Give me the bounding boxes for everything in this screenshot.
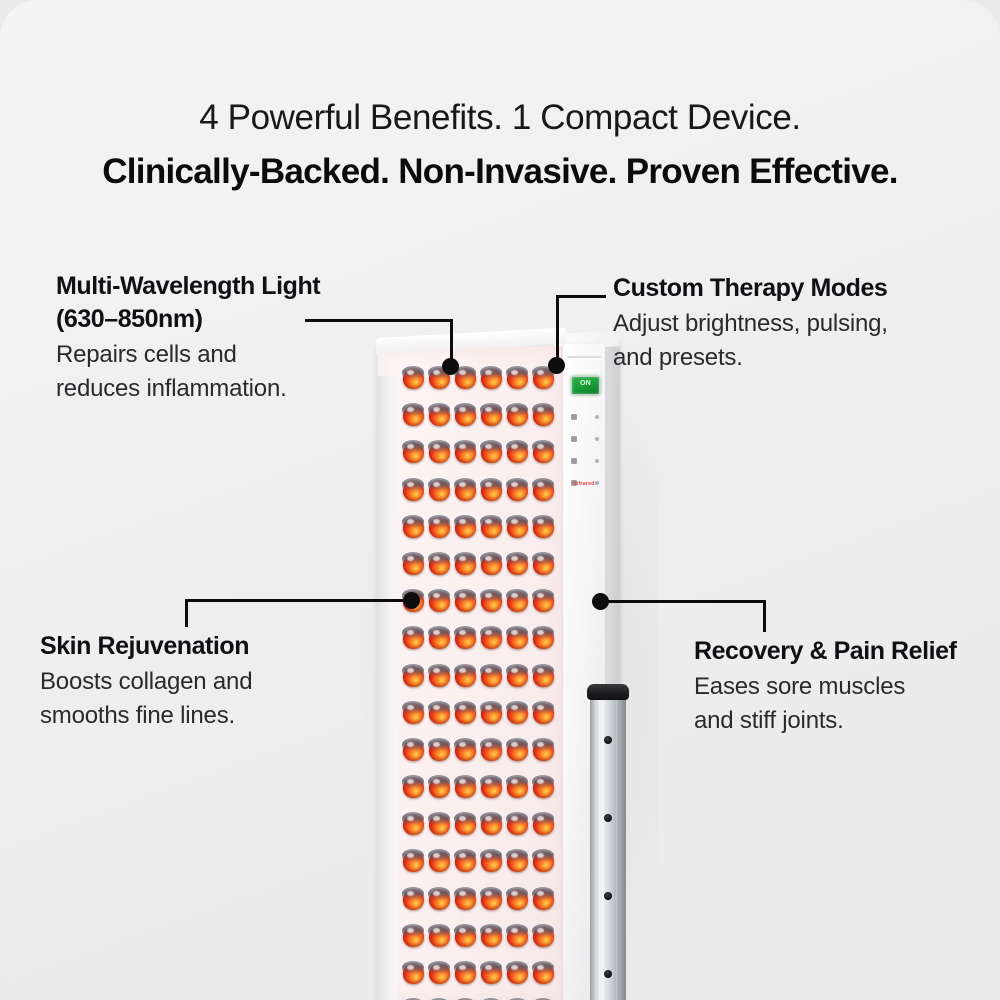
led-bulb (507, 740, 528, 761)
led-bulb (403, 926, 424, 947)
headline-block: 4 Powerful Benefits. 1 Compact Device. C… (0, 96, 1000, 195)
led-bulb (403, 703, 424, 724)
led-bulb (429, 591, 450, 612)
led-bulb (533, 777, 554, 798)
stand-pole-cap (587, 684, 629, 700)
leader-dot-skin (403, 592, 420, 609)
led-bulb (455, 405, 476, 426)
led-bulb (533, 591, 554, 612)
led-bulb (429, 963, 450, 984)
stand-pole (590, 696, 626, 1000)
leader-line-therapy-modes-vertical (556, 295, 559, 365)
pulse-button-icon[interactable] (571, 458, 577, 464)
indicator-led-icon (595, 415, 599, 419)
callout-description: Boosts collagen and smooths fine lines. (40, 665, 370, 733)
led-bulb (481, 442, 502, 463)
stand-adjustment-hole (604, 736, 612, 744)
led-bulb (429, 777, 450, 798)
led-bulb (429, 554, 450, 575)
control-button-row-2[interactable] (571, 436, 599, 442)
led-bulb (533, 666, 554, 687)
led-bulb (481, 926, 502, 947)
headline-line-2: Clinically-Backed. Non-Invasive. Proven … (0, 150, 1000, 195)
control-panel-seam (567, 356, 601, 358)
led-bulb (455, 628, 476, 649)
stand-adjustment-hole (604, 892, 612, 900)
leader-dot-therapy-modes (548, 357, 565, 374)
led-bulb (455, 554, 476, 575)
led-bulb (533, 851, 554, 872)
led-bulb (507, 889, 528, 910)
callout-custom-therapy-modes: Custom Therapy Modes Adjust brightness, … (613, 272, 963, 375)
led-bulb (507, 368, 528, 389)
control-panel-display: ON (571, 376, 600, 395)
led-bulb (455, 703, 476, 724)
callout-title: Multi-Wavelength Light (630–850nm) (56, 270, 386, 336)
callout-title: Skin Rejuvenation (40, 630, 370, 663)
led-bulb (507, 480, 528, 501)
callout-description: Eases sore muscles and stiff joints. (694, 670, 1000, 738)
control-button-row-1[interactable] (571, 414, 599, 420)
red-light-therapy-device: ON Infrared (372, 316, 640, 1000)
leader-line-skin-horizontal (185, 599, 413, 602)
led-bulb (455, 666, 476, 687)
led-bulb (481, 777, 502, 798)
led-bulb (533, 480, 554, 501)
led-bulb (481, 517, 502, 538)
callout-description: Adjust brightness, pulsing, and presets. (613, 307, 963, 375)
callout-skin-rejuvenation: Skin Rejuvenation Boosts collagen and sm… (40, 630, 370, 733)
device-led-face (378, 346, 564, 1000)
led-bulb (533, 628, 554, 649)
led-bulb (481, 851, 502, 872)
leader-line-recovery-horizontal (600, 600, 766, 603)
led-grid (400, 368, 556, 1000)
led-bulb (507, 851, 528, 872)
led-bulb (455, 889, 476, 910)
led-bulb (403, 740, 424, 761)
stand-adjustment-hole (604, 970, 612, 978)
led-bulb (481, 889, 502, 910)
led-bulb (481, 405, 502, 426)
led-bulb (429, 851, 450, 872)
control-button-row-3[interactable] (571, 458, 599, 464)
led-bulb (455, 777, 476, 798)
led-bulb (533, 889, 554, 910)
callout-multi-wavelength-light: Multi-Wavelength Light (630–850nm) Repai… (56, 270, 386, 406)
led-bulb (481, 591, 502, 612)
led-bulb (533, 442, 554, 463)
led-bulb (533, 740, 554, 761)
product-feature-card: 4 Powerful Benefits. 1 Compact Device. C… (0, 0, 1000, 1000)
leader-line-recovery-vertical (763, 600, 766, 632)
callout-title: Custom Therapy Modes (613, 272, 963, 305)
led-bulb (533, 814, 554, 835)
led-bulb (429, 405, 450, 426)
led-bulb (403, 814, 424, 835)
display-label: ON (572, 380, 599, 387)
led-bulb (507, 442, 528, 463)
headline-line-1: 4 Powerful Benefits. 1 Compact Device. (0, 96, 1000, 141)
led-bulb (533, 517, 554, 538)
led-bulb (481, 368, 502, 389)
led-bulb (403, 480, 424, 501)
led-bulb (429, 703, 450, 724)
led-bulb (403, 442, 424, 463)
pole-groove (616, 696, 617, 1000)
led-bulb (481, 814, 502, 835)
led-bulb (507, 666, 528, 687)
led-bulb (403, 517, 424, 538)
led-bulb (455, 740, 476, 761)
indicator-led-icon (595, 459, 599, 463)
led-bulb (481, 666, 502, 687)
led-bulb (533, 703, 554, 724)
led-bulb (533, 926, 554, 947)
brand-logo: Infrared (566, 482, 602, 488)
led-bulb (455, 591, 476, 612)
led-bulb (403, 851, 424, 872)
led-bulb (429, 926, 450, 947)
led-bulb (429, 889, 450, 910)
device-left-bezel (378, 376, 398, 1000)
led-bulb (481, 480, 502, 501)
led-bulb (481, 703, 502, 724)
led-bulb (533, 554, 554, 575)
leader-line-skin-vertical (185, 599, 188, 627)
led-bulb (403, 777, 424, 798)
led-bulb (455, 442, 476, 463)
led-bulb (455, 963, 476, 984)
led-bulb (455, 814, 476, 835)
led-bulb (533, 405, 554, 426)
led-bulb (429, 517, 450, 538)
led-bulb (455, 480, 476, 501)
pole-groove (599, 696, 600, 1000)
led-bulb (403, 889, 424, 910)
leader-line-therapy-modes-horizontal (556, 295, 606, 298)
callout-title: Recovery & Pain Relief (694, 635, 1000, 668)
led-bulb (403, 963, 424, 984)
led-bulb (403, 405, 424, 426)
led-bulb (481, 554, 502, 575)
led-bulb (429, 480, 450, 501)
leader-dot-multi-wavelength (442, 358, 459, 375)
led-bulb (507, 628, 528, 649)
led-bulb (403, 666, 424, 687)
led-bulb (507, 777, 528, 798)
led-bulb (429, 666, 450, 687)
led-bulb (429, 814, 450, 835)
brightness-button-icon[interactable] (571, 436, 577, 442)
callout-recovery-pain-relief: Recovery & Pain Relief Eases sore muscle… (694, 635, 1000, 738)
led-bulb (403, 554, 424, 575)
led-bulb (481, 963, 502, 984)
led-bulb (507, 963, 528, 984)
leader-dot-recovery (592, 593, 609, 610)
led-bulb (455, 517, 476, 538)
led-bulb (481, 628, 502, 649)
mode-button-icon[interactable] (571, 414, 577, 420)
led-bulb (455, 926, 476, 947)
led-bulb (507, 591, 528, 612)
led-bulb (533, 963, 554, 984)
led-bulb (429, 442, 450, 463)
led-bulb (429, 740, 450, 761)
led-bulb (507, 554, 528, 575)
led-bulb (507, 405, 528, 426)
led-bulb (403, 368, 424, 389)
led-bulb (455, 851, 476, 872)
led-bulb (429, 628, 450, 649)
stand-adjustment-hole (604, 814, 612, 822)
led-bulb (507, 814, 528, 835)
led-bulb (507, 703, 528, 724)
indicator-led-icon (595, 437, 599, 441)
led-bulb (403, 628, 424, 649)
led-bulb (507, 926, 528, 947)
led-bulb (507, 517, 528, 538)
led-bulb (481, 740, 502, 761)
callout-description: Repairs cells and reduces inflammation. (56, 338, 386, 406)
led-bulb (455, 368, 476, 389)
